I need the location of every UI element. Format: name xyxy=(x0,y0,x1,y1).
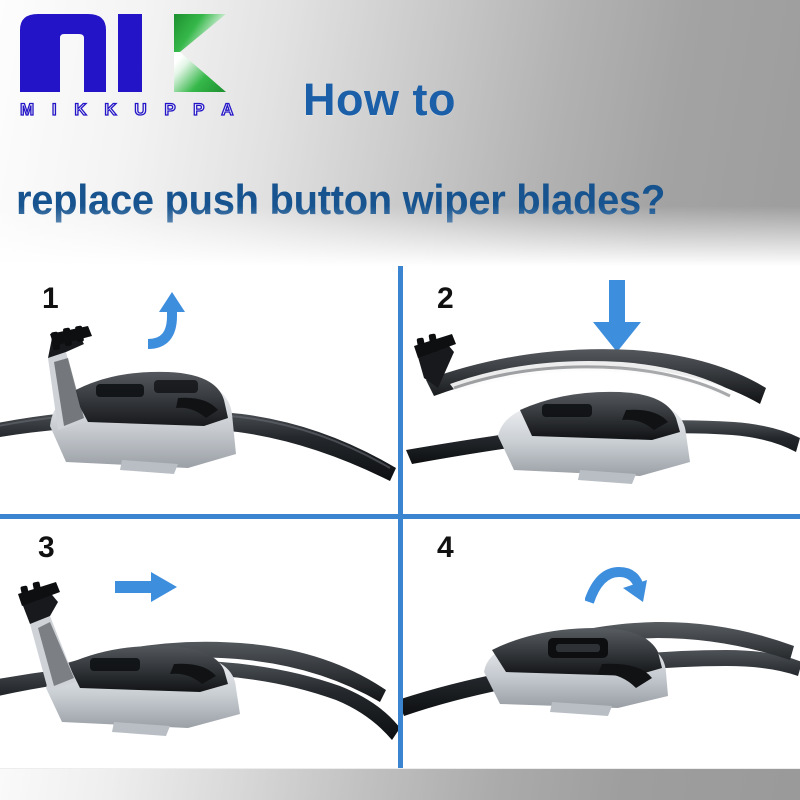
step-number-4: 4 xyxy=(437,533,454,563)
wiper-blade-locked-icon xyxy=(402,588,800,748)
header-fade-overlay xyxy=(0,206,800,266)
footer-top-edge xyxy=(0,768,800,769)
brand-wordmark: M I K K U P P A xyxy=(20,100,226,120)
step-number-1: 1 xyxy=(42,284,59,314)
step-panel-3: 3 xyxy=(0,518,398,768)
grid-horizontal-divider xyxy=(0,514,800,519)
infographic-page: M I K K U P P A How to replace push butt… xyxy=(0,0,800,800)
wiper-blade-with-lifted-arm-icon xyxy=(0,318,398,508)
header-banner: M I K K U P P A How to replace push butt… xyxy=(0,0,800,266)
page-title-line-1: How to xyxy=(303,74,456,126)
step-number-3: 3 xyxy=(38,533,55,563)
step-number-2: 2 xyxy=(437,284,454,314)
footer-strip xyxy=(0,768,800,800)
mk-logo-mark-icon xyxy=(14,8,232,94)
brand-logo: M I K K U P P A xyxy=(14,8,232,128)
wiper-blade-with-arm-lowering-icon xyxy=(404,326,800,511)
step-panel-1: 1 xyxy=(0,266,398,516)
step-panel-2: 2 xyxy=(402,266,800,516)
steps-grid: 1 xyxy=(0,266,800,768)
step-panel-4: 4 xyxy=(402,518,800,768)
wiper-blade-sliding-icon xyxy=(0,576,398,761)
